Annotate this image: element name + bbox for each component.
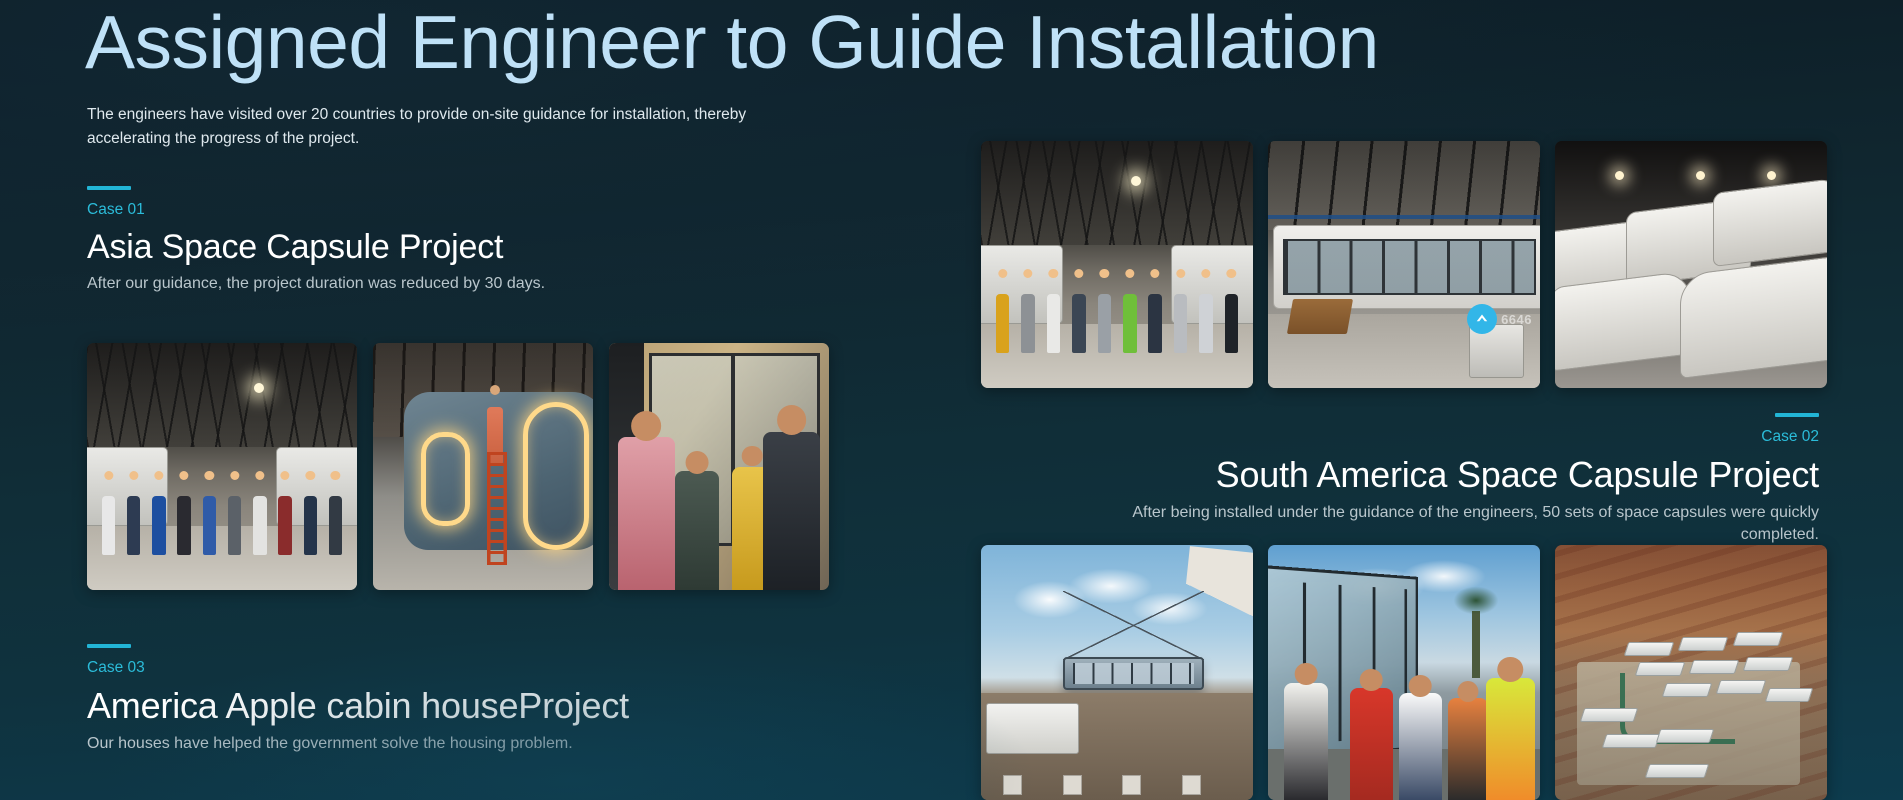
case-description: After our guidance, the project duration…: [87, 273, 545, 296]
page-subtitle: The engineers have visited over 20 count…: [87, 103, 787, 151]
watermark-badge: 6646: [1467, 304, 1532, 334]
case-03-photo-3[interactable]: [1555, 545, 1827, 800]
case-03-gallery: [981, 545, 1827, 800]
watermark-text: 6646: [1501, 312, 1532, 327]
case-description: After being installed under the guidance…: [1119, 502, 1819, 546]
case-title: South America Space Capsule Project: [1119, 454, 1819, 496]
case-01-photo-3[interactable]: [609, 343, 829, 590]
case-02-photo-3[interactable]: [1555, 141, 1827, 388]
photo-capsule-shells-row: [1555, 141, 1827, 388]
photo-site-visit-tour: [1268, 545, 1540, 800]
accent-bar: [87, 186, 131, 190]
accent-bar: [1775, 413, 1819, 417]
case-02-photo-2[interactable]: 6646: [1268, 141, 1540, 388]
chevron-up-icon: [1467, 304, 1497, 334]
case-02-gallery-top: 6646: [981, 141, 1827, 388]
photo-modular-cabin-assembly: [1268, 141, 1540, 388]
case-title: America Apple cabin houseProject: [87, 685, 629, 727]
case-01-photo-2[interactable]: [373, 343, 593, 590]
photo-factory-team: [981, 141, 1253, 388]
case-block-03: Case 03 America Apple cabin houseProject…: [87, 644, 629, 756]
case-description: Our houses have helped the government so…: [87, 733, 629, 756]
case-block-01: Case 01 Asia Space Capsule Project After…: [87, 186, 545, 295]
case-03-photo-1[interactable]: [981, 545, 1253, 800]
accent-bar: [87, 644, 131, 648]
promo-page: Assigned Engineer to Guide Installation …: [0, 0, 1903, 800]
case-01-photo-1[interactable]: [87, 343, 357, 590]
case-block-02: Case 02 South America Space Capsule Proj…: [1119, 413, 1819, 546]
photo-aerial-camp: [1555, 545, 1827, 800]
case-label: Case 01: [87, 201, 545, 220]
case-label: Case 02: [1119, 428, 1819, 447]
case-label: Case 03: [87, 659, 629, 678]
photo-crane-lift: [981, 545, 1253, 800]
case-02-photo-1[interactable]: [981, 141, 1253, 388]
case-01-gallery: [87, 343, 829, 590]
photo-led-capsule-assembly: [373, 343, 593, 590]
case-title: Asia Space Capsule Project: [87, 227, 545, 267]
case-03-photo-2[interactable]: [1268, 545, 1540, 800]
photo-workshop-team: [87, 343, 357, 590]
page-title: Assigned Engineer to Guide Installation: [85, 2, 1379, 83]
photo-glass-installation: [609, 343, 829, 590]
